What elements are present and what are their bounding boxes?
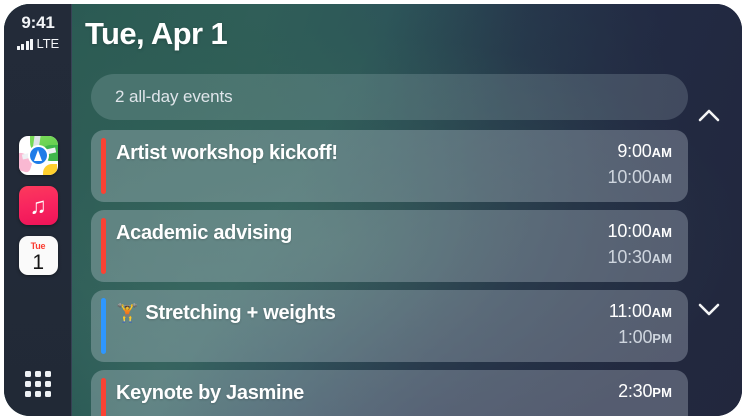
event-start-time: 10:00AM: [608, 219, 672, 245]
sidebar-item-music[interactable]: ♫: [19, 186, 58, 225]
event-title: Academic advising: [116, 221, 292, 245]
scroll-up-button[interactable]: [692, 99, 726, 133]
event-title-row: Artist workshop kickoff!: [116, 139, 580, 167]
chevron-down-icon: [692, 292, 726, 326]
event-start-time: 2:30PM: [618, 379, 672, 405]
event-time-range: 2:30PM: [618, 379, 672, 405]
chevron-up-icon: [692, 99, 726, 133]
app-grid-button[interactable]: [22, 368, 54, 400]
event-emoji-icon: 🏋️: [116, 303, 138, 323]
sidebar-item-maps[interactable]: [19, 136, 58, 175]
event-title: Stretching + weights: [145, 301, 335, 325]
event-end-time: 10:00AM: [608, 165, 672, 191]
event-start-time-value: 2:30: [618, 381, 652, 401]
event-end-time-value: 10:30: [608, 247, 652, 267]
event-start-time-value: 10:00: [608, 221, 652, 241]
event-title: Artist workshop kickoff!: [116, 141, 338, 165]
all-day-events-label: 2 all-day events: [115, 87, 232, 107]
event-title-row: Keynote by Jasmine: [116, 379, 580, 407]
status-bar: 9:41 LTE: [4, 13, 72, 50]
event-start-time: 11:00AM: [609, 299, 672, 325]
event-list: Artist workshop kickoff!9:00AM10:00AMAca…: [91, 130, 688, 416]
event-end-time-value: 10:00: [608, 167, 652, 187]
page-title: Tue, Apr 1: [85, 16, 227, 52]
all-day-events-banner[interactable]: 2 all-day events: [91, 74, 688, 120]
event-start-time-period: AM: [652, 145, 672, 160]
event-end-time: 10:30AM: [608, 245, 672, 271]
event-end-time-period: AM: [652, 171, 672, 186]
sidebar: 9:41 LTE: [4, 4, 72, 416]
event-title-row: Academic advising: [116, 219, 580, 247]
carplay-screen: 9:41 LTE: [4, 4, 742, 416]
event-time-range: 10:00AM10:30AM: [608, 219, 672, 271]
event-accent-bar: [101, 218, 106, 274]
event-time-range: 9:00AM10:00AM: [608, 139, 672, 191]
status-bar-time: 9:41: [4, 13, 72, 32]
grid-icon: [25, 371, 31, 377]
event-accent-bar: [101, 378, 106, 416]
calendar-icon-weekday: Tue: [31, 242, 46, 251]
music-note-icon: ♫: [29, 194, 46, 217]
event-end-time-period: AM: [652, 251, 672, 266]
event-start-time-value: 9:00: [617, 141, 651, 161]
event-title-row: 🏋️Stretching + weights: [116, 299, 580, 327]
calendar-icon-day: 1: [32, 252, 43, 273]
calendar-day-view: Tue, Apr 1 2 all-day events Artist works…: [73, 4, 742, 416]
event-end-time-value: 1:00: [618, 327, 652, 347]
event-title: Keynote by Jasmine: [116, 381, 304, 405]
event-card[interactable]: 🏋️Stretching + weights11:00AM1:00PM: [91, 290, 688, 362]
status-bar-connectivity: LTE: [4, 34, 72, 50]
sidebar-item-calendar[interactable]: Tue 1: [19, 236, 58, 275]
event-start-time-period: PM: [652, 385, 672, 400]
carplay-device-frame: 9:41 LTE: [0, 0, 746, 420]
event-start-time-period: AM: [652, 305, 672, 320]
event-start-time-period: AM: [652, 225, 672, 240]
sidebar-app-icons: ♫ Tue 1: [4, 136, 72, 275]
event-time-range: 11:00AM1:00PM: [609, 299, 672, 351]
signal-bars-icon: [17, 38, 34, 50]
event-end-time-period: PM: [652, 331, 672, 346]
event-card[interactable]: Artist workshop kickoff!9:00AM10:00AM: [91, 130, 688, 202]
scroll-down-button[interactable]: [692, 292, 726, 326]
event-start-time: 9:00AM: [608, 139, 672, 165]
event-card[interactable]: Academic advising10:00AM10:30AM: [91, 210, 688, 282]
event-card[interactable]: Keynote by Jasmine2:30PM: [91, 370, 688, 416]
event-accent-bar: [101, 138, 106, 194]
event-start-time-value: 11:00: [609, 301, 652, 321]
event-end-time: 1:00PM: [609, 325, 672, 351]
event-accent-bar: [101, 298, 106, 354]
status-bar-network-type: LTE: [36, 38, 59, 50]
